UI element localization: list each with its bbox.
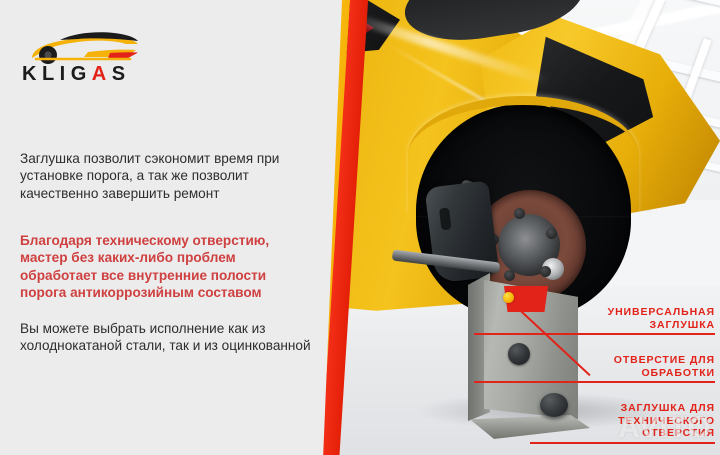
wheel-hub: [498, 214, 560, 276]
callout-line-1: ОТВЕРСТИЕ ДЛЯ: [614, 354, 715, 366]
callout-processing-hole: ОТВЕРСТИЕ ДЛЯ ОБРАБОТКИ: [540, 354, 715, 383]
product-photo: [318, 0, 720, 455]
paragraph-technical-hole: Благодаря техническому отверстию, мастер…: [20, 232, 312, 302]
paragraph-material-options: Вы можете выбрать исполнение как из холо…: [20, 320, 312, 355]
callout-line-1: УНИВЕРСАЛЬНАЯ: [608, 306, 715, 318]
lug-bolt: [514, 208, 525, 219]
callout-line-2: ЗАГЛУШКА: [650, 319, 716, 331]
callout-underline: [474, 333, 715, 335]
callout-universal-plug: УНИВЕРСАЛЬНАЯ ЗАГЛУШКА: [540, 306, 715, 335]
yellow-marker-dot: [503, 292, 514, 303]
left-content-panel: KLIGAS Заглушка позволит сэкономит время…: [0, 0, 330, 455]
lug-bolt: [546, 228, 557, 239]
installed-rubber-plug: [508, 343, 530, 365]
callout-label: ОТВЕРСТИЕ ДЛЯ ОБРАБОТКИ: [540, 354, 715, 379]
slide-canvas: KLIGAS Заглушка позволит сэкономит время…: [0, 0, 720, 455]
brand-name: KLIGAS: [22, 63, 131, 85]
callout-label: УНИВЕРСАЛЬНАЯ ЗАГЛУШКА: [540, 306, 715, 331]
brand-wordmark: KLIGAS: [22, 63, 131, 86]
callout-underline: [474, 381, 715, 383]
paragraph-savings: Заглушка позволит сэкономит время при ус…: [20, 150, 312, 202]
watermark: AVITO: [618, 411, 712, 445]
callout-line-2: ОБРАБОТКИ: [641, 367, 715, 379]
